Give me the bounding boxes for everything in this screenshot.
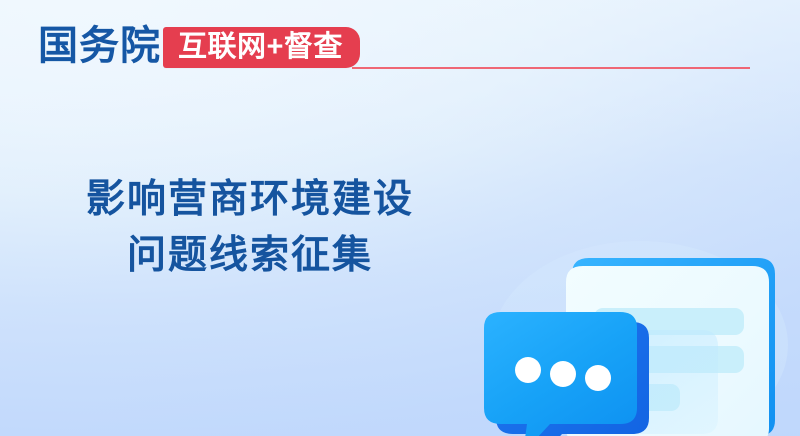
banner-root: 国务院 互联网+督查 影响营商环境建设 问题线索征集	[0, 0, 800, 436]
chat-bubbles-illustration	[470, 210, 800, 436]
front-bubble	[484, 312, 649, 436]
page-title: 影响营商环境建设 问题线索征集	[0, 172, 500, 284]
gov-title: 国务院	[38, 25, 161, 67]
front-bubble-dot-3	[585, 365, 611, 391]
banner-header: 国务院 互联网+督查	[0, 0, 800, 90]
front-bubble-dot-1	[515, 357, 541, 383]
program-badge-label: 互联网+督查	[178, 33, 343, 62]
front-bubble-dot-2	[550, 361, 576, 387]
header-divider-rule	[352, 67, 750, 69]
program-badge: 互联网+督查	[163, 27, 360, 68]
page-title-line-1: 影响营商环境建设	[0, 172, 500, 228]
page-title-line-2: 问题线索征集	[0, 228, 500, 284]
